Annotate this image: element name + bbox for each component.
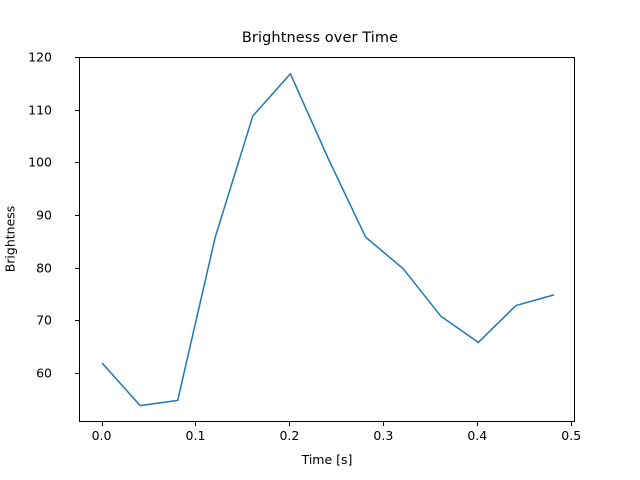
plot-axes-area <box>79 57 575 422</box>
x-tick-mark <box>195 422 196 426</box>
y-tick-label: 100 <box>28 155 52 170</box>
x-tick-label: 0.4 <box>467 428 487 443</box>
x-tick-label: 0.2 <box>279 428 299 443</box>
y-tick-label: 60 <box>36 366 52 381</box>
x-tick-mark <box>102 422 103 426</box>
y-tick-mark <box>75 373 79 374</box>
x-tick-label: 0.3 <box>373 428 393 443</box>
y-tick-mark <box>75 320 79 321</box>
y-tick-mark <box>75 215 79 216</box>
x-tick-mark <box>571 422 572 426</box>
y-tick-mark <box>75 57 79 58</box>
y-axis-label: Brightness <box>3 206 18 273</box>
y-tick-label: 80 <box>36 260 52 275</box>
page-title: Brightness over Time <box>0 30 640 46</box>
y-tick-label: 90 <box>36 208 52 223</box>
y-tick-label: 110 <box>28 102 52 117</box>
y-tick-label: 120 <box>28 50 52 65</box>
x-tick-label: 0.0 <box>92 428 112 443</box>
x-axis-label: Time [s] <box>79 452 575 467</box>
x-tick-label: 0.1 <box>186 428 206 443</box>
x-tick-mark <box>289 422 290 426</box>
x-tick-mark <box>383 422 384 426</box>
brightness-line-series <box>103 74 554 406</box>
line-chart-svg <box>80 58 576 423</box>
y-tick-label: 70 <box>36 313 52 328</box>
y-tick-mark <box>75 110 79 111</box>
y-tick-mark <box>75 162 79 163</box>
x-tick-mark <box>477 422 478 426</box>
figure-canvas: Brightness over Time 60708090100110120 0… <box>0 0 640 480</box>
y-tick-mark <box>75 268 79 269</box>
x-tick-label: 0.5 <box>561 428 581 443</box>
